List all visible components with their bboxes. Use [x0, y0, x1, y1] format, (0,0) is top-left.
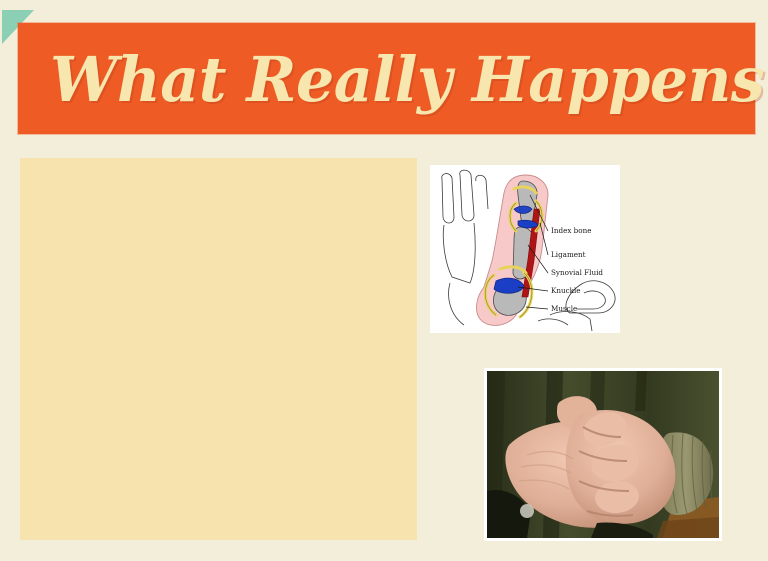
body-content-text — [20, 158, 417, 190]
anatomy-label-1: Ligament — [551, 250, 586, 259]
anatomy-diagram-graphic: Index bone Ligament Synovial Fluid Knuck… — [430, 165, 620, 333]
photo-button-detail — [520, 504, 534, 518]
knuckle-cracking-photo — [484, 368, 722, 541]
title-banner: What Really Happens? — [18, 23, 755, 134]
body-content-panel — [20, 158, 417, 540]
hands-photo-graphic — [487, 371, 719, 538]
anatomy-label-4: Muscle — [551, 304, 577, 313]
page-title: What Really Happens? — [50, 34, 768, 126]
anatomy-label-0: Index bone — [551, 226, 591, 235]
anatomy-label-2: Synovial Fluid — [551, 268, 603, 277]
finger-anatomy-diagram: Index bone Ligament Synovial Fluid Knuck… — [430, 165, 620, 333]
anatomy-label-3: Knuckle — [551, 286, 581, 295]
slide: What Really Happens? — [0, 0, 768, 561]
